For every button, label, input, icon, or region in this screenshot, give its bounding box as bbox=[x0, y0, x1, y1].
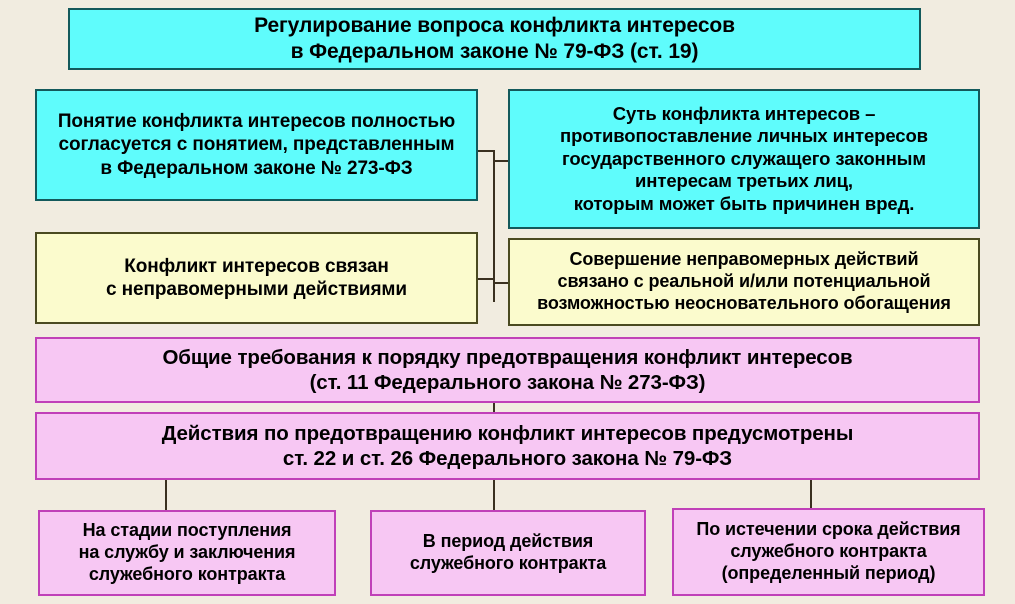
connector-concept-right-stub bbox=[478, 150, 494, 152]
connector-essence-left-stub bbox=[493, 160, 509, 162]
connector-actions-to-stage1 bbox=[165, 480, 167, 511]
node-stage-after-contract-expiry: По истечении срока действия служебного к… bbox=[672, 508, 985, 596]
node-general-requirements: Общие требования к порядку предотвращени… bbox=[35, 337, 980, 403]
connector-linked-right-stub bbox=[478, 278, 494, 280]
node-title: Регулирование вопроса конфликта интересо… bbox=[68, 8, 921, 70]
connector-actions-to-stage2 bbox=[493, 480, 495, 511]
connector-unjust-left-stub bbox=[493, 282, 509, 284]
node-prevention-actions: Действия по предотвращению конфликт инте… bbox=[35, 412, 980, 480]
node-stage-during-contract: В период действия служебного контракта bbox=[370, 510, 646, 596]
node-essence-of-conflict: Суть конфликта интересов – противопостав… bbox=[508, 89, 980, 229]
connector-actions-to-stage3 bbox=[810, 480, 812, 509]
node-stage-entering-service: На стадии поступления на службу и заключ… bbox=[38, 510, 336, 596]
node-conflict-linked-to-unlawful-acts: Конфликт интересов связан с неправомерны… bbox=[35, 232, 478, 324]
node-unlawful-acts-unjust-enrichment: Совершение неправомерных действий связан… bbox=[508, 238, 980, 326]
diagram-canvas: Регулирование вопроса конфликта интересо… bbox=[0, 0, 1015, 604]
node-concept-definition: Понятие конфликта интересов полностью со… bbox=[35, 89, 478, 201]
